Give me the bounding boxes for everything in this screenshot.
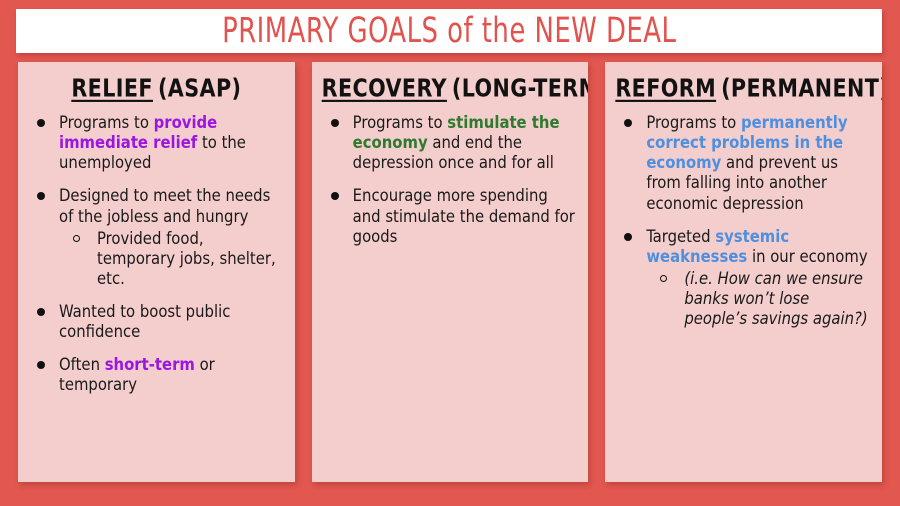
bullet-text: Often short-term or temporary [59, 355, 215, 394]
card-heading: REFORM(PERMANENT) [615, 75, 872, 103]
sub-bullet-text: Provided food, temporary jobs, shelter, … [97, 229, 276, 288]
bullet-item: Wanted to boost public confidence [28, 302, 285, 342]
sub-bullet-circle-icon [660, 275, 667, 282]
bullet-dot-icon [37, 119, 45, 127]
title-bar: PRIMARY GOALS of the NEW DEAL [16, 9, 882, 53]
card-heading-qualifier: (LONG-TERM) [452, 75, 588, 103]
sub-bullet-item: (i.e. How can we ensure banks won’t lose… [646, 269, 872, 329]
text-segment: Programs to [59, 113, 154, 132]
bullet-item: Programs to provide immediate relief to … [28, 113, 285, 173]
bullet-list: Programs to permanently correct problems… [615, 113, 872, 329]
bullet-text: Designed to meet the needs of the jobles… [59, 186, 270, 225]
bullet-text: Programs to provide immediate relief to … [59, 113, 246, 172]
text-segment: Often [59, 355, 105, 374]
card-heading: RELIEF(ASAP) [28, 75, 285, 103]
bullet-dot-icon [37, 308, 45, 316]
sub-bullet-text: (i.e. How can we ensure banks won’t lose… [684, 269, 867, 328]
bullet-item: Often short-term or temporary [28, 355, 285, 395]
goal-card-relief: RELIEF(ASAP)Programs to provide immediat… [18, 62, 295, 482]
sub-bullet-item: Provided food, temporary jobs, shelter, … [59, 229, 285, 289]
card-heading-keyword: RELIEF [71, 75, 153, 103]
bullet-dot-icon [331, 192, 339, 200]
bullet-dot-icon [37, 361, 45, 369]
goal-card-recovery: RECOVERY(LONG-TERM)Programs to stimulate… [312, 62, 589, 482]
text-segment: Programs to [646, 113, 741, 132]
page-title: PRIMARY GOALS of the NEW DEAL [222, 14, 676, 49]
slide-canvas: PRIMARY GOALS of the NEW DEAL RELIEF(ASA… [0, 0, 900, 506]
bullet-dot-icon [624, 233, 632, 241]
bullet-item: Targeted systemic weaknesses in our econ… [615, 227, 872, 330]
columns-container: RELIEF(ASAP)Programs to provide immediat… [18, 62, 882, 482]
text-segment: Designed to meet the needs of the jobles… [59, 186, 270, 225]
bullet-dot-icon [624, 119, 632, 127]
sub-bullet-circle-icon [73, 235, 80, 242]
card-heading-qualifier: (ASAP) [158, 75, 241, 103]
text-segment: Targeted [646, 227, 715, 246]
bullet-item: Programs to stimulate the economy and en… [322, 113, 579, 173]
text-segment: Wanted to boost public confidence [59, 302, 230, 341]
text-segment: (i.e. How can we ensure banks won’t lose… [684, 269, 867, 328]
bullet-dot-icon [37, 192, 45, 200]
bullet-list: Programs to stimulate the economy and en… [322, 113, 579, 247]
card-heading-keyword: RECOVERY [322, 75, 447, 103]
bullet-list: Programs to provide immediate relief to … [28, 113, 285, 396]
text-segment: Provided food, temporary jobs, shelter, … [97, 229, 276, 288]
bullet-item: Encourage more spending and stimulate th… [322, 186, 579, 246]
card-heading-keyword: REFORM [615, 75, 716, 103]
sub-bullet-list: (i.e. How can we ensure banks won’t lose… [646, 269, 872, 329]
bullet-text: Wanted to boost public confidence [59, 302, 230, 341]
highlight-segment: short-term [105, 355, 195, 374]
card-heading-qualifier: (PERMANENT) [721, 75, 882, 103]
bullet-text: Programs to permanently correct problems… [646, 113, 847, 213]
bullet-item: Designed to meet the needs of the jobles… [28, 186, 285, 289]
sub-bullet-list: Provided food, temporary jobs, shelter, … [59, 229, 285, 289]
bullet-text: Targeted systemic weaknesses in our econ… [646, 227, 867, 266]
card-heading: RECOVERY(LONG-TERM) [322, 75, 579, 103]
goal-card-reform: REFORM(PERMANENT)Programs to permanently… [605, 62, 882, 482]
text-segment: in our economy [747, 247, 867, 266]
text-segment: Programs to [353, 113, 448, 132]
bullet-item: Programs to permanently correct problems… [615, 113, 872, 214]
bullet-text: Encourage more spending and stimulate th… [353, 186, 575, 245]
bullet-dot-icon [331, 119, 339, 127]
bullet-text: Programs to stimulate the economy and en… [353, 113, 560, 172]
text-segment: Encourage more spending and stimulate th… [353, 186, 575, 245]
